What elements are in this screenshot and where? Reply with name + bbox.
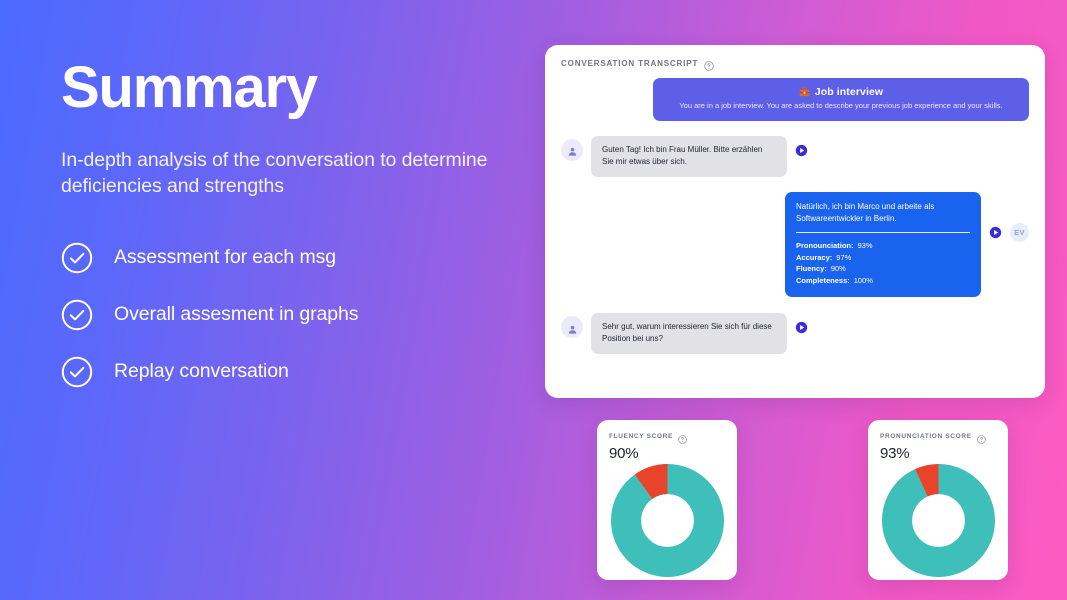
score-value: 100%: [854, 276, 873, 285]
divider: [796, 232, 970, 233]
message-bubble-agent: Guten Tag! Ich bin Frau Müller. Bitte er…: [591, 136, 787, 177]
feature-item-label: Assessment for each msg: [114, 246, 336, 269]
score-key: Completeness:: [796, 276, 850, 285]
scenario-description: You are in a job interview. You are aske…: [665, 101, 1017, 112]
play-circle-icon[interactable]: [795, 144, 808, 157]
message-text: Natürlich, ich bin Marco und arbeite als…: [796, 201, 970, 225]
score-value: 90%: [831, 264, 846, 273]
conversation-transcript-card: CONVERSATION TRANSCRIPT Job interview Yo…: [545, 45, 1045, 398]
transcript-header: CONVERSATION TRANSCRIPT: [561, 58, 1029, 68]
play-circle-icon[interactable]: [795, 321, 808, 334]
feature-item-graphs: Overall assesment in graphs: [61, 299, 531, 331]
message-row-agent-2: Sehr gut, warum interessieren Sie sich f…: [561, 313, 1029, 354]
question-mark-circle-icon[interactable]: [704, 58, 714, 68]
score-completeness: Completeness:100%: [796, 275, 970, 287]
feature-list: Assessment for each msg Overall assesmen…: [61, 242, 531, 388]
transcript-header-label: CONVERSATION TRANSCRIPT: [561, 59, 698, 68]
pronunciation-score-value: 93%: [880, 445, 996, 462]
feature-item-replay: Replay conversation: [61, 356, 531, 388]
avatar: [561, 316, 583, 338]
check-circle-icon: [61, 242, 93, 274]
fluency-score-card: FLUENCY SCORE 90%: [597, 420, 737, 580]
score-value: 97%: [836, 253, 851, 262]
fluency-card-header: FLUENCY SCORE: [609, 431, 725, 441]
feature-item-label: Overall assesment in graphs: [114, 303, 358, 326]
score-value: 93%: [858, 241, 873, 250]
score-pronounciation: Pronounciation:93%: [796, 240, 970, 252]
user-avatar-initials: EV: [1010, 223, 1029, 242]
fluency-score-value: 90%: [609, 445, 725, 462]
person-icon: [567, 144, 578, 155]
score-fluency: Fluency:90%: [796, 263, 970, 275]
pronunciation-score-card: PRONUNCIATION SCORE 93%: [868, 420, 1008, 580]
avatar: [561, 139, 583, 161]
page-subtitle: In-depth analysis of the conversation to…: [61, 147, 513, 200]
check-circle-icon: [61, 299, 93, 331]
message-bubble-user: Natürlich, ich bin Marco und arbeite als…: [785, 192, 981, 298]
question-mark-circle-icon[interactable]: [678, 431, 688, 441]
message-bubble-agent: Sehr gut, warum interessieren Sie sich f…: [591, 313, 787, 354]
play-circle-icon[interactable]: [989, 226, 1002, 239]
summary-left-panel: Summary In-depth analysis of the convers…: [61, 58, 531, 413]
score-key: Pronounciation:: [796, 241, 854, 250]
fluency-donut-chart: [609, 464, 725, 577]
pronunciation-card-label: PRONUNCIATION SCORE: [880, 433, 972, 440]
question-mark-circle-icon[interactable]: [977, 431, 987, 441]
pronunciation-donut-chart: [880, 464, 996, 577]
score-key: Fluency:: [796, 264, 827, 273]
scenario-title-row: Job interview: [665, 86, 1017, 98]
scenario-title-text: Job interview: [815, 86, 883, 98]
briefcase-icon: [799, 87, 810, 97]
score-key: Accuracy:: [796, 253, 832, 262]
scenario-banner: Job interview You are in a job interview…: [653, 78, 1029, 121]
message-row-user-1: Natürlich, ich bin Marco und arbeite als…: [561, 192, 1029, 298]
fluency-card-label: FLUENCY SCORE: [609, 433, 673, 440]
page-title: Summary: [61, 58, 531, 119]
feature-item-assessment: Assessment for each msg: [61, 242, 531, 274]
person-icon: [567, 322, 578, 333]
check-circle-icon: [61, 356, 93, 388]
message-row-agent-1: Guten Tag! Ich bin Frau Müller. Bitte er…: [561, 136, 1029, 177]
pronunciation-card-header: PRONUNCIATION SCORE: [880, 431, 996, 441]
score-accuracy: Accuracy:97%: [796, 252, 970, 264]
feature-item-label: Replay conversation: [114, 360, 289, 383]
